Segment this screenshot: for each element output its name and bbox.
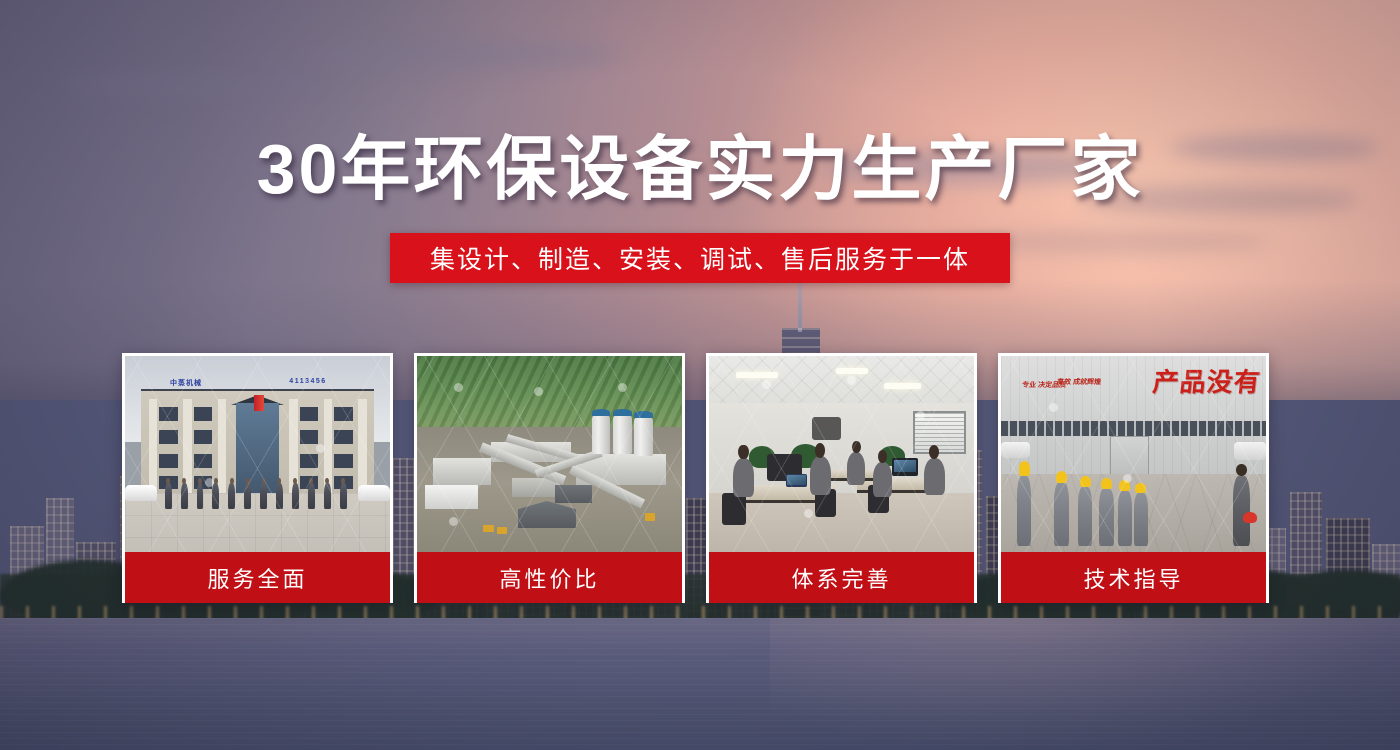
photo-staff-member [212,483,219,508]
photo-employee [847,452,866,485]
photo-window [159,454,178,468]
photo-window [334,407,353,421]
photo-flag [254,395,265,411]
photo-car [1001,442,1030,458]
photo-staff-member [228,483,235,508]
photo-plant-structure [425,485,478,509]
watermark-dot [1123,474,1132,483]
photo-window [334,454,353,468]
photo-staff-member [260,483,267,508]
card-caption: 高性价比 [417,552,682,603]
cloud [60,70,320,98]
photo-window [334,430,353,444]
watermark-dot [449,517,458,526]
photo-factory-slogan-small: 高效 成就辉煌 [1056,378,1101,387]
photo-building-sign: 中蒸机械 [170,378,202,388]
subtitle-text: 集设计、制造、安装、调试、售后服务于一体 [430,240,970,276]
card-photo-workers: 产品没有 专业 决定品质 高效 成就辉煌 [1001,356,1266,552]
photo-staff-member [165,483,172,508]
photo-ceiling-light [736,372,778,378]
photo-worker [1078,487,1093,546]
photo-window [300,407,319,421]
photo-worker [1054,483,1069,546]
photo-monitor [892,458,919,476]
card-photo-office-building: 中蒸机械 4113456 [125,356,390,552]
cloud [300,40,620,70]
photo-worker [1134,493,1149,546]
photo-ceiling [709,356,974,407]
photo-staff-member [340,483,347,508]
card-photo-office-interior [709,356,974,552]
photo-entrance-glass [236,403,278,493]
photo-staff-member [324,483,331,508]
photo-chair [722,493,746,524]
photo-window [194,430,213,444]
photo-window [194,454,213,468]
photo-silo [592,415,611,454]
photo-ceiling-light [884,383,921,389]
photo-building-phone: 4113456 [289,378,326,385]
photo-excavator [483,525,494,533]
photo-worker [1017,476,1032,547]
feature-card[interactable]: 产品没有 专业 决定品质 高效 成就辉煌 技术 [998,353,1269,603]
photo-shed [555,485,592,503]
photo-supervisor [1233,476,1250,547]
photo-window [300,454,319,468]
photo-column [218,399,226,493]
photo-staff-member [276,483,283,508]
photo-silo [613,415,632,454]
watermark-dot [316,444,325,453]
card-caption: 体系完善 [709,552,974,603]
photo-red-helmet [1243,512,1257,523]
watermark-dot [847,376,856,385]
photo-staff-member [244,483,251,508]
photo-ceiling-light [836,368,868,374]
river-water [0,618,1400,750]
hero-banner: 30年环保设备实力生产厂家 集设计、制造、安装、调试、售后服务于一体 [0,0,1400,750]
feature-card[interactable]: 高性价比 [414,353,685,603]
photo-staff-member [197,483,204,508]
photo-car [125,485,157,501]
page-title: 30年环保设备实力生产厂家 [0,133,1400,207]
photo-window [300,430,319,444]
photo-staff-member [181,483,188,508]
photo-window [194,407,213,421]
photo-window [159,430,178,444]
photo-employee [733,458,754,497]
photo-factory-slogan: 产品没有 [1151,362,1263,399]
photo-column [358,399,366,493]
feature-card[interactable]: 体系完善 [706,353,977,603]
photo-excavator [645,513,656,521]
photo-staff-member [308,483,315,508]
photo-employee [924,458,945,495]
photo-worker [1099,489,1114,546]
photo-excavator [497,527,508,535]
photo-monitor [786,474,807,488]
water-reflection [770,618,1400,750]
card-caption: 技术指导 [1001,552,1266,603]
feature-card-list: 中蒸机械 4113456 服务全面 [122,353,1278,603]
feature-card[interactable]: 中蒸机械 4113456 服务全面 [122,353,393,603]
photo-column [149,399,157,493]
photo-window [159,407,178,421]
photo-plant-structure [433,458,491,485]
watermark-dot [916,411,925,420]
photo-wall-logo [812,417,841,441]
photo-employee [810,456,831,495]
photo-silo [634,417,653,456]
card-photo-aerial-plant [417,356,682,552]
watermark-dot [1049,403,1058,412]
photo-car [358,485,390,501]
photo-worker [1118,491,1133,546]
photo-strip-window [1001,421,1266,437]
photo-employee [873,462,892,497]
photo-staff-member [292,483,299,508]
photo-factory-door [1110,436,1150,477]
watermark-dot [762,380,771,389]
watermark-dot [205,478,214,487]
watermark-dot [534,387,543,396]
subtitle-banner: 集设计、制造、安装、调试、售后服务于一体 [390,233,1010,283]
card-caption: 服务全面 [125,552,390,603]
photo-car [1234,442,1266,460]
